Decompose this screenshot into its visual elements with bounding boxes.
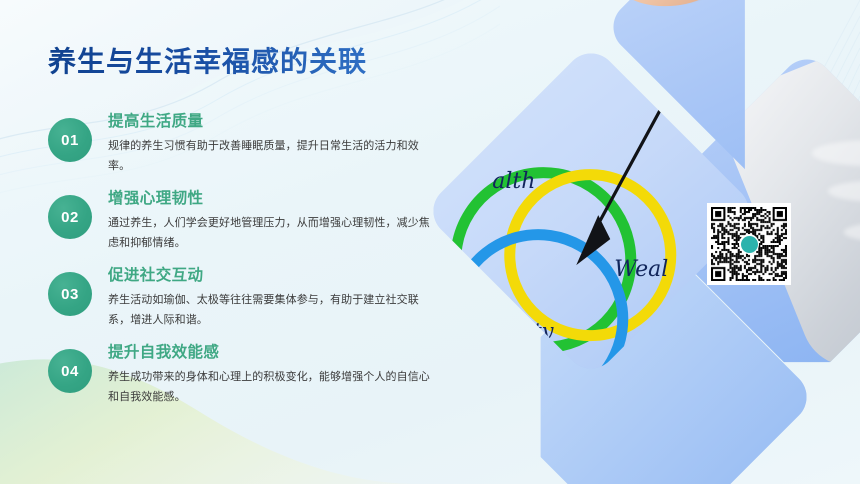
item-number-badge: 02 xyxy=(48,195,92,239)
item-description: 通过养生，人们学会更好地管理压力，从而增强心理韧性，减少焦虑和抑郁情绪。 xyxy=(108,214,438,253)
item-heading: 促进社交互动 xyxy=(108,266,438,287)
artwork-panel: Quality of Life xyxy=(430,0,860,484)
list-item[interactable]: 01 提高生活质量 规律的养生习惯有助于改善睡眠质量，提升日常生活的活力和效率。 xyxy=(48,112,448,176)
qr-code[interactable] xyxy=(707,203,791,285)
list-item[interactable]: 03 促进社交互动 养生活动如瑜伽、太极等往往需要集体参与，有助于建立社交联系，… xyxy=(48,266,448,330)
item-description: 养生活动如瑜伽、太极等往往需要集体参与，有助于建立社交联系，增进人际和谐。 xyxy=(108,291,438,330)
item-description: 规律的养生习惯有助于改善睡眠质量，提升日常生活的活力和效率。 xyxy=(108,137,438,176)
slide-canvas: 养生与生活幸福感的关联 01 提高生活质量 规律的养生习惯有助于改善睡眠质量，提… xyxy=(0,0,860,484)
list-item[interactable]: 04 提升自我效能感 养生成功带来的身体和心理上的积极变化，能够增强个人的自信心… xyxy=(48,343,448,407)
page-title: 养生与生活幸福感的关联 xyxy=(48,40,367,80)
label-health: alth xyxy=(492,169,535,194)
item-number-badge: 01 xyxy=(48,118,92,162)
item-number-badge: 04 xyxy=(48,349,92,393)
benefits-list: 01 提高生活质量 规律的养生习惯有助于改善睡眠质量，提升日常生活的活力和效率。… xyxy=(48,112,448,420)
list-item[interactable]: 02 增强心理韧性 通过养生，人们学会更好地管理压力，从而增强心理韧性，减少焦虑… xyxy=(48,189,448,253)
item-heading: 提高生活质量 xyxy=(108,112,438,133)
item-number-badge: 03 xyxy=(48,272,92,316)
item-heading: 增强心理韧性 xyxy=(108,189,438,210)
item-description: 养生成功带来的身体和心理上的积极变化，能够增强个人的自信心和自我效能感。 xyxy=(108,368,438,407)
item-heading: 提升自我效能感 xyxy=(108,343,438,364)
qr-code-logo xyxy=(739,234,759,254)
